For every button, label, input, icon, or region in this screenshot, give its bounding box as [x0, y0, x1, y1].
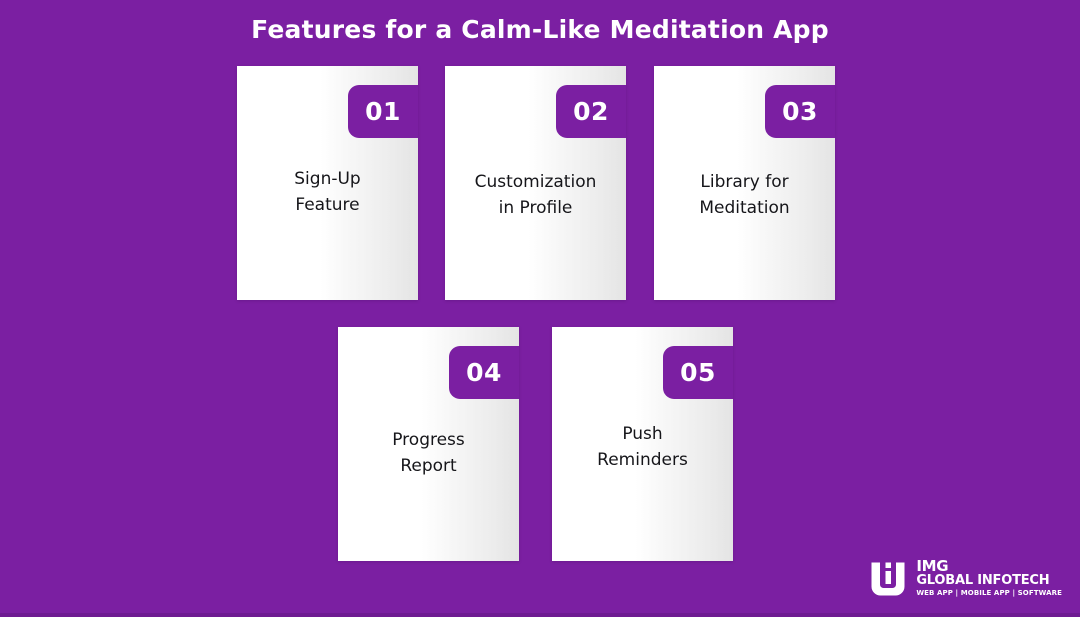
- infographic-canvas: Features for a Calm-Like Meditation App …: [0, 0, 1080, 617]
- logo-name-secondary: GLOBAL INFOTECH: [916, 573, 1062, 588]
- brand-logo: IMG GLOBAL INFOTECH WEB APP | MOBILE APP…: [869, 559, 1062, 599]
- card-title: Sign-Up Feature: [237, 166, 418, 218]
- card-number-badge: 05: [663, 346, 733, 399]
- page-title: Features for a Calm-Like Meditation App: [0, 12, 1080, 48]
- card-title: Push Reminders: [552, 421, 733, 473]
- bottom-edge-strip: [0, 613, 1080, 617]
- card-title-line-1: Push: [560, 421, 725, 447]
- card-title-line-2: Report: [346, 453, 511, 479]
- logo-wordmark: IMG GLOBAL INFOTECH WEB APP | MOBILE APP…: [916, 559, 1062, 599]
- card-number-badge: 03: [765, 85, 835, 138]
- card-title-line-2: Reminders: [560, 447, 725, 473]
- card-number-badge: 04: [449, 346, 519, 399]
- card-title-line-2: Feature: [245, 192, 410, 218]
- feature-card-02: 02 Customization in Profile: [445, 66, 626, 300]
- img-monogram-icon: [869, 560, 907, 598]
- logo-name-primary: IMG: [916, 559, 1062, 573]
- card-title: Library for Meditation: [654, 169, 835, 221]
- card-number-label: 02: [573, 99, 609, 124]
- card-number-badge: 02: [556, 85, 626, 138]
- card-title-line-2: in Profile: [453, 195, 618, 221]
- card-number-label: 05: [680, 360, 716, 385]
- card-number-badge: 01: [348, 85, 418, 138]
- card-number-label: 01: [365, 99, 401, 124]
- card-title-line-2: Meditation: [662, 195, 827, 221]
- feature-card-05: 05 Push Reminders: [552, 327, 733, 561]
- feature-card-01: 01 Sign-Up Feature: [237, 66, 418, 300]
- card-title: Progress Report: [338, 427, 519, 479]
- card-title: Customization in Profile: [445, 169, 626, 221]
- card-title-line-1: Sign-Up: [245, 166, 410, 192]
- feature-card-03: 03 Library for Meditation: [654, 66, 835, 300]
- card-number-label: 03: [782, 99, 818, 124]
- card-title-line-1: Library for: [662, 169, 827, 195]
- card-number-label: 04: [466, 360, 502, 385]
- card-title-line-1: Progress: [346, 427, 511, 453]
- logo-tagline: WEB APP | MOBILE APP | SOFTWARE: [916, 588, 1062, 599]
- feature-card-04: 04 Progress Report: [338, 327, 519, 561]
- card-title-line-1: Customization: [453, 169, 618, 195]
